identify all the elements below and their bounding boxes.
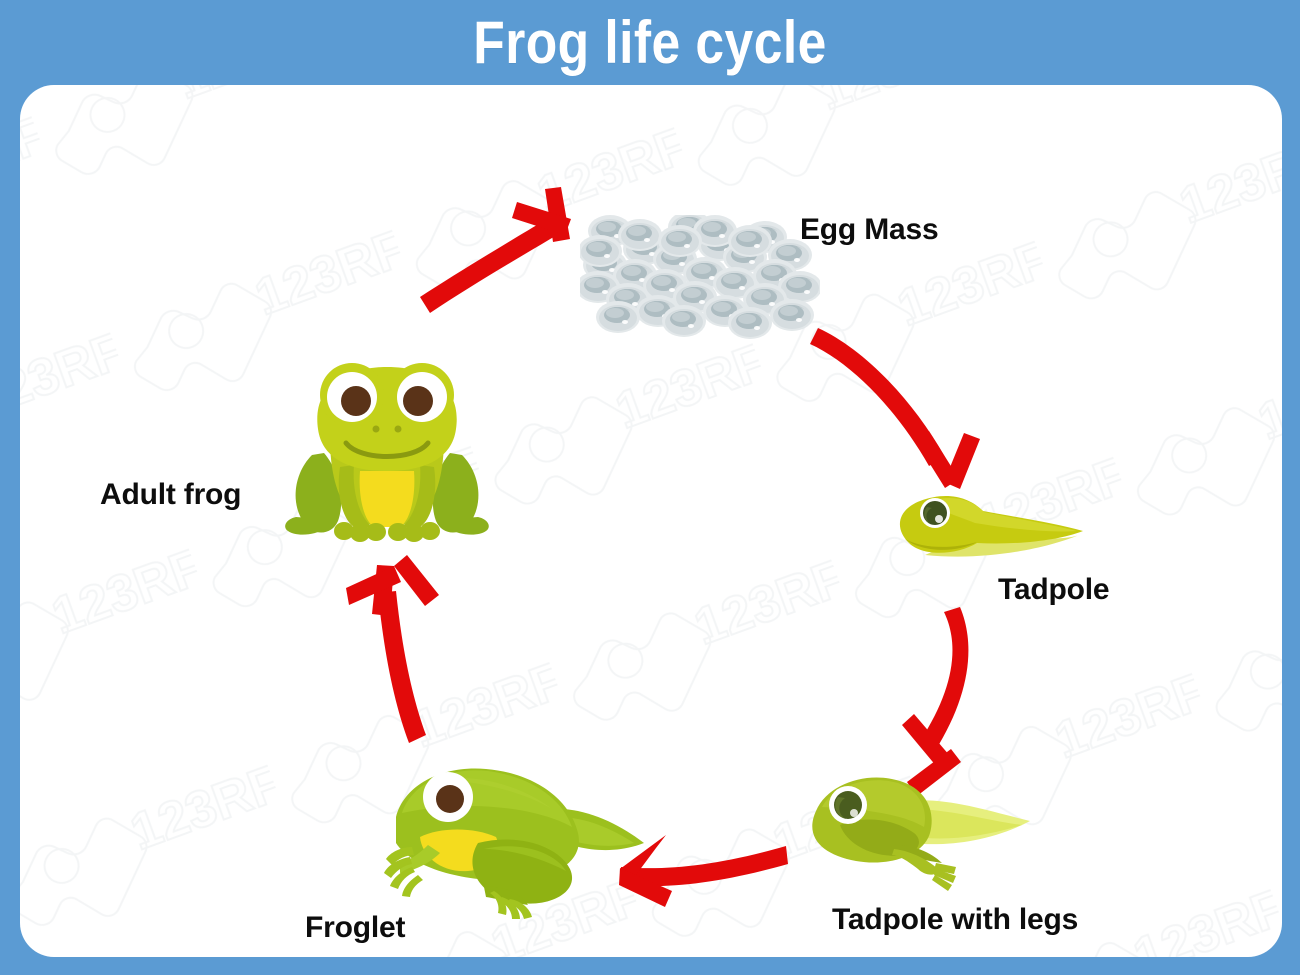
arrow-froglet-to-adult [346,555,439,743]
egg-mass-illustration [580,215,820,340]
label-tadpole-with-legs: Tadpole with legs [832,903,1078,937]
label-egg-mass: Egg Mass [800,213,938,247]
diagram-card: 123RF [20,85,1282,957]
tadpole-with-legs-illustration [778,763,1068,898]
tadpole-illustration [865,483,1095,573]
blue-frame: Frog life cycle 123RF [0,0,1300,975]
label-adult-frog: Adult frog [100,478,241,512]
page-title: Frog life cycle [91,6,1209,80]
arrow-adult-to-eggs [420,187,571,313]
label-tadpole: Tadpole [998,573,1109,607]
adult-frog-illustration [282,351,492,551]
froglet-illustration [356,751,656,931]
label-froglet: Froglet [305,911,405,945]
arrow-eggs-to-tadpole [810,328,980,489]
